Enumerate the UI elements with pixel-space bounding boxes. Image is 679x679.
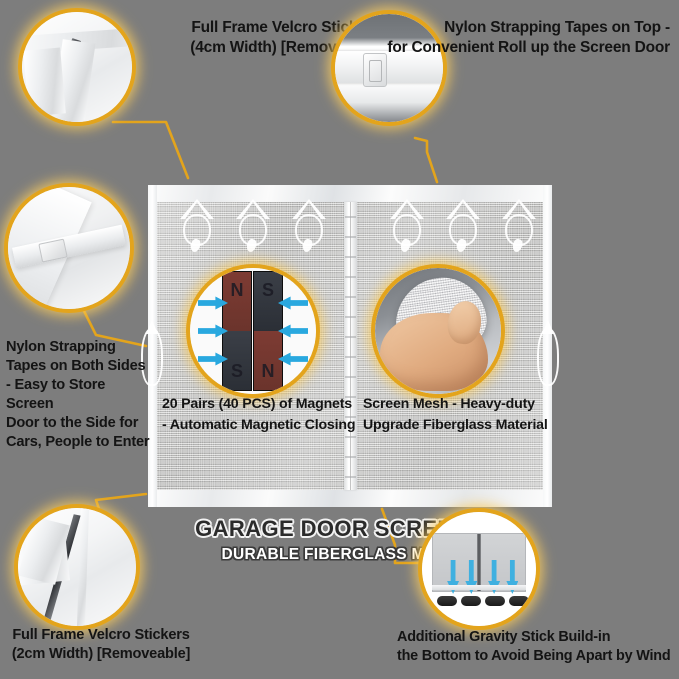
magnet-arrows-left [198,297,228,366]
attract-arrow-left-icon [278,353,308,366]
infographic-canvas: GARAGE DOOR SCREENS DURABLE FIBERGLASS M… [0,0,679,679]
velcro-strip-peel-photo [18,508,136,626]
gravity-stick-diagram [422,512,536,626]
caption-line: Door to the Side for [6,414,156,433]
caption-line: Nylon Strapping [6,338,156,357]
caption-line: Full Frame Velcro Stickers [130,18,380,38]
hanging-loop [180,199,210,255]
caption-line: Screen Mesh - Heavy-duty [363,394,563,415]
callout-mesh-caption: Screen Mesh - Heavy-duty Upgrade Fibergl… [363,394,563,435]
magnet-pair: N S S N [222,271,284,391]
hanging-loop [446,199,476,255]
caption-line: Tapes on Both Sides [6,357,156,376]
caption-line: - Automatic Magnetic Closing [162,415,362,436]
attract-arrow-left-icon [278,325,308,338]
panel-center-seam [344,202,357,490]
caption-line: for Convenient Roll up the Screen Door [380,38,670,58]
gravity-stick-bar [509,596,530,606]
gravity-stick-bar [485,596,506,606]
caption-line: Cars, People to Enter [6,433,156,452]
attract-arrow-right-icon [198,297,228,310]
callout-magnets-caption: 20 Pairs (40 PCS) of Magnets - Automatic… [162,394,362,435]
caption-line: Additional Gravity Stick Build-in [397,628,677,647]
nylon-strap-clip-photo [8,187,130,309]
hanging-loop [390,199,420,255]
attract-arrow-left-icon [278,297,308,310]
hanging-loop [292,199,322,255]
caption-line: Nylon Strapping Tapes on Top - [380,18,670,38]
gravity-stick-bar [461,596,482,606]
hand-holding-mesh-photo [375,268,501,394]
attract-arrow-right-icon [198,325,228,338]
callout-gravity-stick-image [422,512,536,626]
callout-mesh-image [375,268,501,394]
panel-bottom-frame [148,490,552,507]
caption-line: (2cm Width) [Removeable] [6,645,196,664]
caption-line: 20 Pairs (40 PCS) of Magnets [162,394,362,415]
callout-velcro-bottom-image [18,508,136,626]
gravity-panel-seam [477,534,481,591]
callout-nylon-top-caption: Nylon Strapping Tapes on Top - for Conve… [380,18,670,58]
side-pull-strap-right [537,328,559,386]
hanging-loop [502,199,532,255]
velcro-strip-peel-photo [22,12,132,122]
connector-velcro-bottom [96,494,146,512]
callout-velcro-bottom-caption: Full Frame Velcro Stickers (2cm Width) [… [6,626,196,664]
caption-line: Full Frame Velcro Stickers [6,626,196,645]
gravity-bottom-strip [432,585,525,590]
callout-nylon-side-image [8,187,130,309]
connector-nylon-top [415,138,437,182]
caption-line: Upgrade Fiberglass Material [363,415,563,436]
magnet-arrows-right [278,297,308,366]
callout-gravity-stick-caption: Additional Gravity Stick Build-in the Bo… [397,628,677,665]
attract-arrow-right-icon [198,353,228,366]
caption-line: - Easy to Store Screen [6,376,156,414]
callout-magnets-image: N S S N [190,268,316,394]
caption-line: the Bottom to Avoid Being Apart by Wind [397,647,677,666]
connector-velcro-top [113,122,188,178]
magnet-pair-photo: N S S N [190,268,316,394]
gravity-stick-bar [437,596,458,606]
callout-velcro-top-image [22,12,132,122]
callout-nylon-side-caption: Nylon Strapping Tapes on Both Sides - Ea… [6,338,156,452]
hanging-loop [236,199,266,255]
